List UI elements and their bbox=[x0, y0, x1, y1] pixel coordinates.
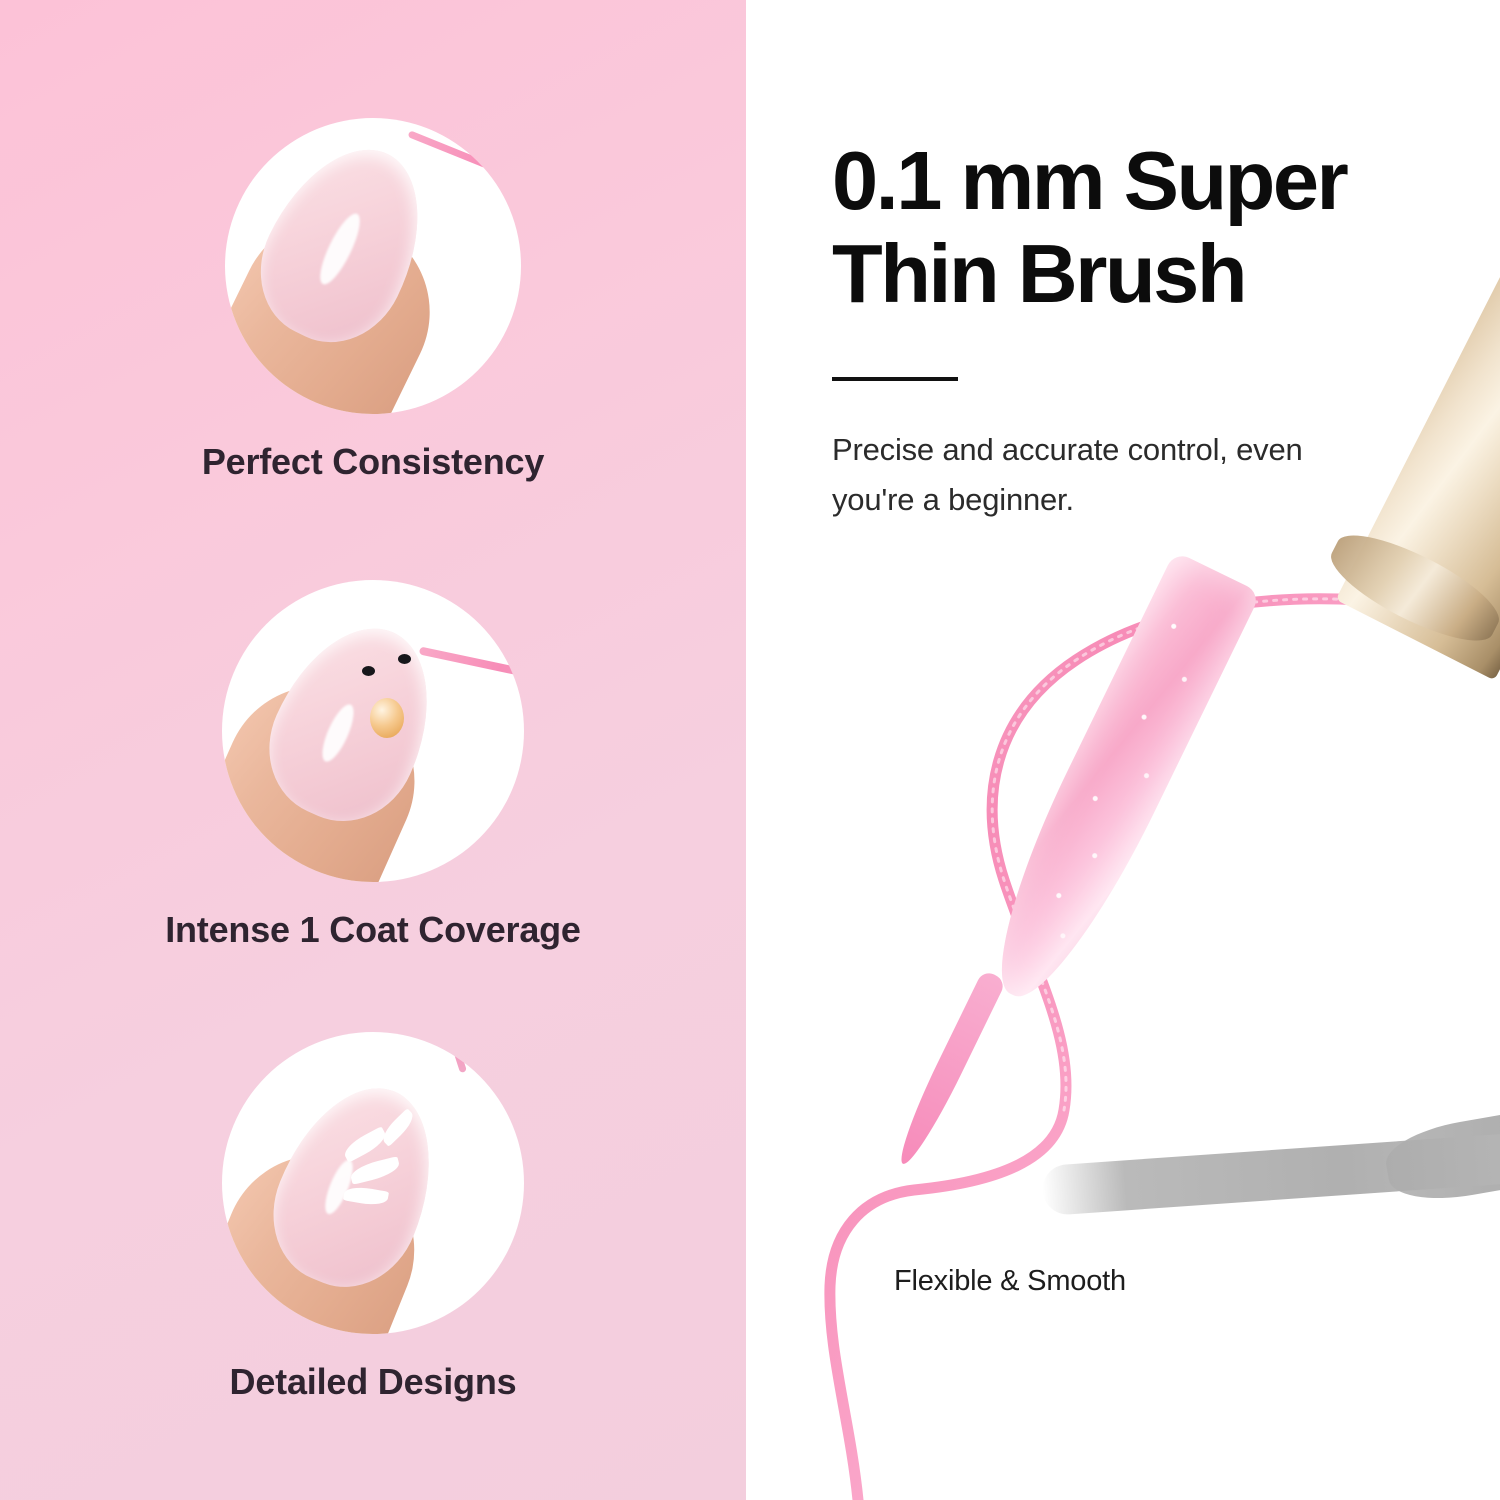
brush-stroke-line bbox=[408, 130, 521, 196]
feature-item-intense-coverage: Intense 1 Coat Coverage bbox=[0, 580, 746, 955]
feature-label: Intense 1 Coat Coverage bbox=[113, 904, 633, 955]
brush-stroke-line bbox=[419, 646, 524, 685]
brush-stroke-line bbox=[417, 1032, 467, 1073]
feature-photo-intense-coverage bbox=[222, 580, 524, 882]
features-panel: Perfect Consistency Intense 1 Coat Cover… bbox=[0, 0, 746, 1500]
brush-bristle-body bbox=[969, 551, 1261, 1016]
title-divider bbox=[832, 377, 958, 381]
brush-caption: Flexible & Smooth bbox=[894, 1265, 1126, 1298]
nail-art-dot bbox=[398, 654, 411, 664]
brush-tip bbox=[891, 969, 1006, 1169]
product-detail-panel: 0.1 mm Super Thin Brush Precise and accu… bbox=[746, 0, 1500, 1500]
nail-art-gem bbox=[370, 698, 404, 738]
feature-item-detailed-designs: Detailed Designs bbox=[0, 1032, 746, 1407]
feature-label: Perfect Consistency bbox=[113, 436, 633, 487]
product-infographic: Perfect Consistency Intense 1 Coat Cover… bbox=[0, 0, 1500, 1500]
nail-art-dot bbox=[362, 666, 375, 676]
subtitle-text: Precise and accurate control, even you'r… bbox=[832, 425, 1392, 525]
feature-photo-perfect-consistency bbox=[225, 118, 521, 414]
feature-photo-detailed-designs bbox=[222, 1032, 524, 1334]
brush-shadow bbox=[1041, 1130, 1500, 1216]
feature-label: Detailed Designs bbox=[113, 1356, 633, 1407]
feature-item-perfect-consistency: Perfect Consistency bbox=[0, 118, 746, 487]
page-title: 0.1 mm Super Thin Brush bbox=[832, 135, 1472, 321]
